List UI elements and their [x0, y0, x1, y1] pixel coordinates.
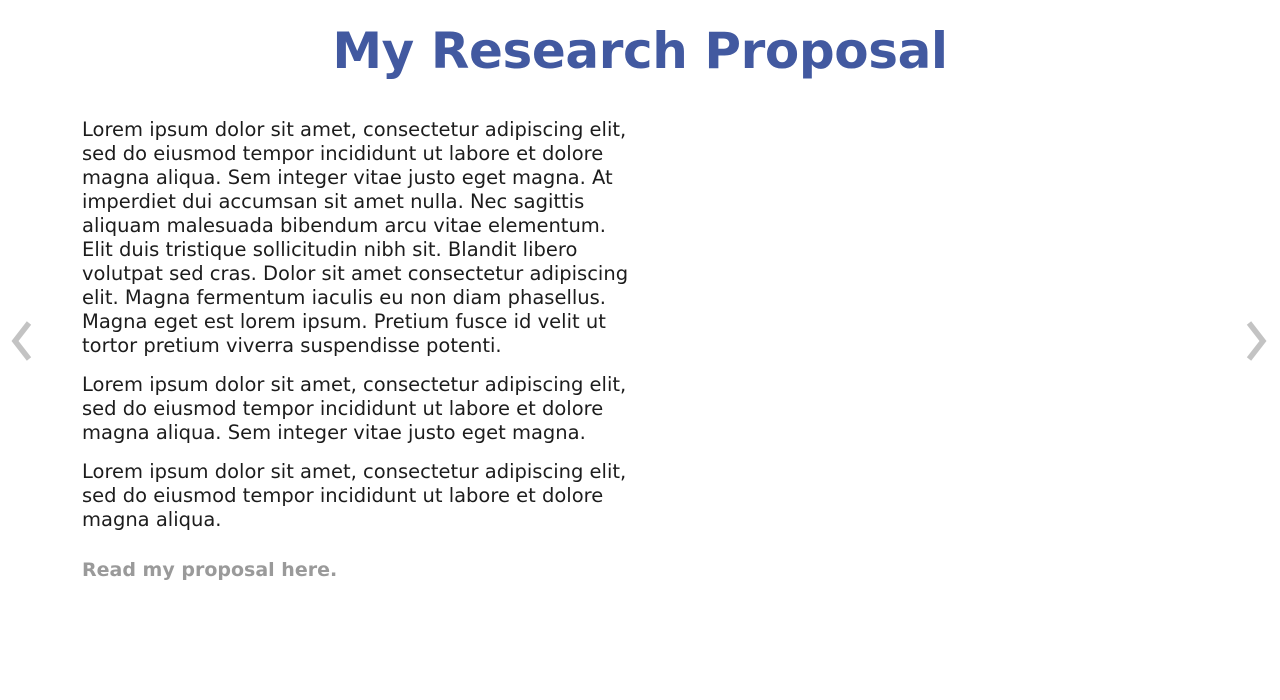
body-paragraph: Lorem ipsum dolor sit amet, consectetur …: [82, 118, 632, 358]
chevron-right-icon: [1243, 319, 1269, 363]
media-placeholder: [640, 118, 1280, 578]
content-row: Lorem ipsum dolor sit amet, consectetur …: [0, 118, 1280, 582]
text-column: Lorem ipsum dolor sit amet, consectetur …: [0, 118, 640, 582]
carousel-prev-button[interactable]: [0, 318, 44, 364]
carousel-next-button[interactable]: [1234, 318, 1278, 364]
body-paragraph: Lorem ipsum dolor sit amet, consectetur …: [82, 460, 632, 532]
read-proposal-link[interactable]: Read my proposal here.: [82, 558, 337, 582]
media-column: [640, 118, 1280, 578]
page-title: My Research Proposal: [0, 20, 1280, 82]
body-paragraph: Lorem ipsum dolor sit amet, consectetur …: [82, 373, 632, 445]
chevron-left-icon: [9, 319, 35, 363]
slide-container: My Research Proposal Lorem ipsum dolor s…: [0, 0, 1280, 700]
